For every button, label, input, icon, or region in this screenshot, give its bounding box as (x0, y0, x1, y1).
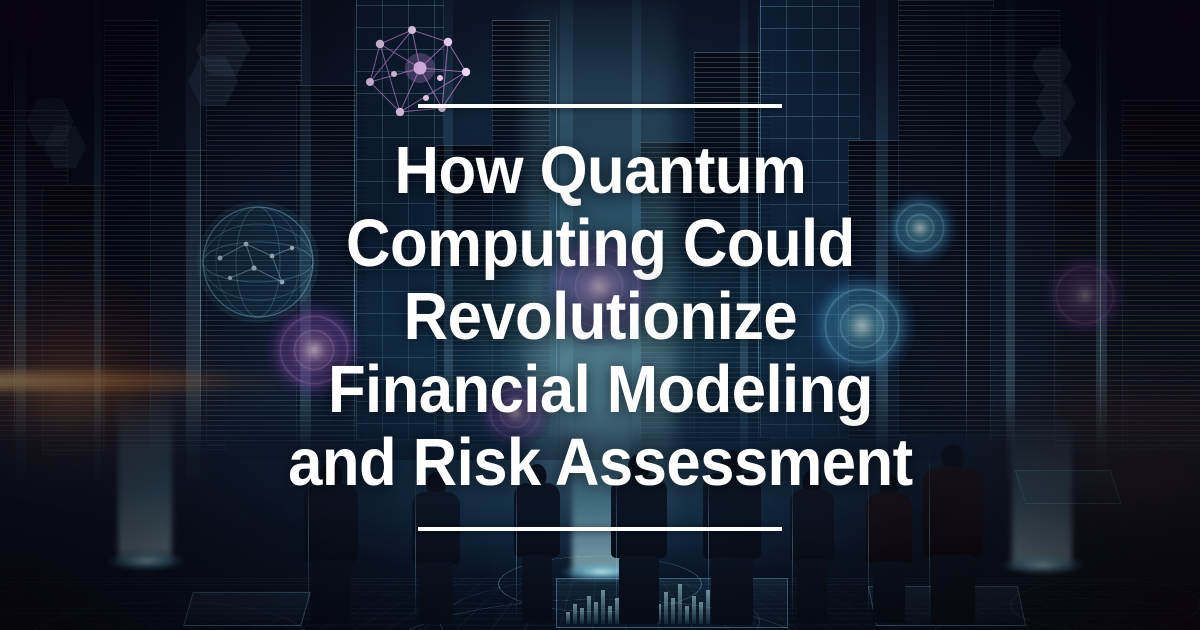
title-line-1: How Quantum (288, 134, 912, 207)
title-line-4: Financial Modeling (288, 353, 912, 426)
page-title: How Quantum Computing Could Revolutioniz… (288, 134, 912, 499)
hero-banner: How Quantum Computing Could Revolutioniz… (0, 0, 1200, 630)
divider-bottom (418, 527, 782, 531)
title-line-5: and Risk Assessment (288, 426, 912, 499)
divider-top (418, 104, 782, 108)
title-line-2: Computing Could (288, 207, 912, 280)
title-block: How Quantum Computing Could Revolutioniz… (0, 0, 1200, 630)
title-line-3: Revolutionize (288, 280, 912, 353)
